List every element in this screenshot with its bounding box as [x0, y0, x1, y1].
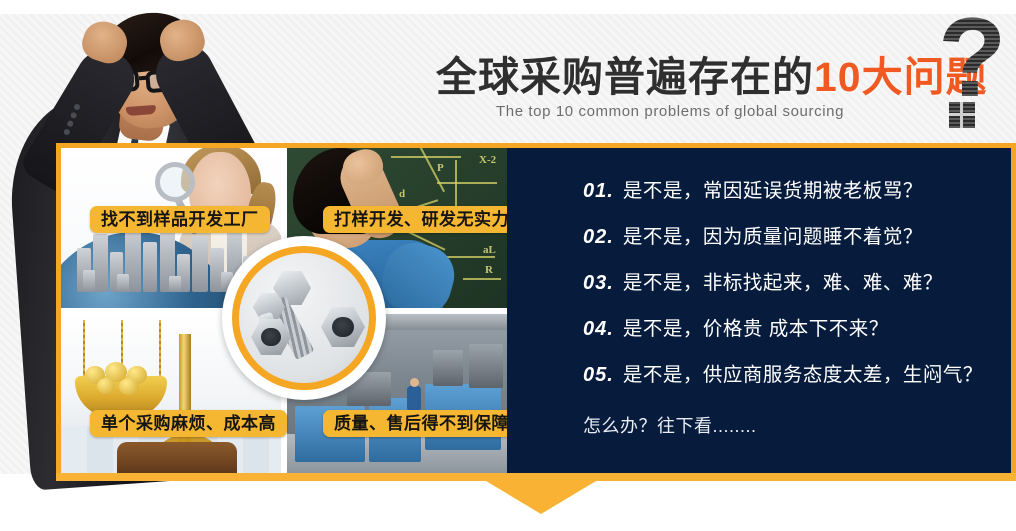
nut-right — [321, 307, 365, 347]
problem-list: 01.是不是，常因延误货期被老板骂？ 02.是不是，因为质量问题睡不着觉？ 03… — [507, 148, 1011, 474]
image-collage: X-2RaLRPd1/2 — [61, 148, 507, 474]
collage-tag-3: 单个采购麻烦、成本高 — [90, 410, 287, 437]
gold-nugget — [97, 378, 115, 394]
list-item-text: 是不是，供应商服务态度太差，生闷气？ — [623, 358, 983, 387]
chain-left — [83, 320, 85, 378]
footer-note: 怎么办？往下看........ — [583, 412, 757, 438]
list-item-number: 04. — [583, 318, 614, 341]
title-main-text: 全球采购普遍存在的 — [436, 54, 814, 100]
glasses-bridge — [139, 76, 148, 81]
machine — [469, 344, 503, 388]
list-item: 02.是不是，因为质量问题睡不着觉？ — [583, 220, 923, 249]
list-item-number: 05. — [583, 364, 614, 387]
chain-right — [159, 320, 161, 378]
question-mark-glyph: ? — [938, 2, 1006, 114]
machine — [433, 350, 463, 386]
question-mark-dot — [949, 102, 975, 128]
list-item-number: 02. — [583, 226, 614, 249]
list-item-text: 是不是，价格贵 成本下不来？ — [623, 312, 889, 341]
factory-worker-head — [410, 378, 419, 387]
collage-tag-2: 打样开发、研发无实力 — [323, 206, 520, 233]
collage-tag-1: 找不到样品开发工厂 — [90, 206, 270, 233]
bottom-gold-band — [56, 473, 1016, 481]
list-item-text: 是不是，常因延误货期被老板骂？ — [623, 174, 923, 203]
list-item-number: 03. — [583, 272, 614, 295]
list-item: 05.是不是，供应商服务态度太差，生闷气？ — [583, 358, 983, 387]
question-mark-icon: ? — [938, 18, 1012, 114]
collage-tag-4: 质量、售后得不到保障 — [323, 410, 520, 437]
wooden-barrel — [117, 442, 237, 474]
gold-nugget — [119, 378, 139, 395]
page-title: 全球采购普遍存在的10大问题 — [436, 52, 956, 102]
list-item-number: 01. — [583, 180, 614, 203]
badge-gold-ring — [232, 246, 376, 390]
magnifier-lens-icon — [155, 162, 195, 202]
list-item-text: 是不是，非标找起来，难、难、难？ — [623, 266, 943, 295]
center-bolts-badge — [222, 236, 386, 400]
content-board: X-2RaLRPd1/2 — [56, 143, 1016, 479]
list-item: 01.是不是，常因延误货期被老板骂？ — [583, 174, 923, 203]
list-item-text: 是不是，因为质量问题睡不着觉？ — [623, 220, 923, 249]
board-inner: X-2RaLRPd1/2 — [61, 148, 1011, 474]
banner-stage: 全球采购普遍存在的10大问题 The top 10 common problem… — [0, 0, 1016, 531]
page-subtitle: The top 10 common problems of global sou… — [496, 103, 966, 120]
list-item: 04.是不是，价格贵 成本下不来？ — [583, 312, 889, 341]
list-item: 03.是不是，非标找起来，难、难、难？ — [583, 266, 943, 295]
factory-worker-body — [407, 386, 421, 412]
